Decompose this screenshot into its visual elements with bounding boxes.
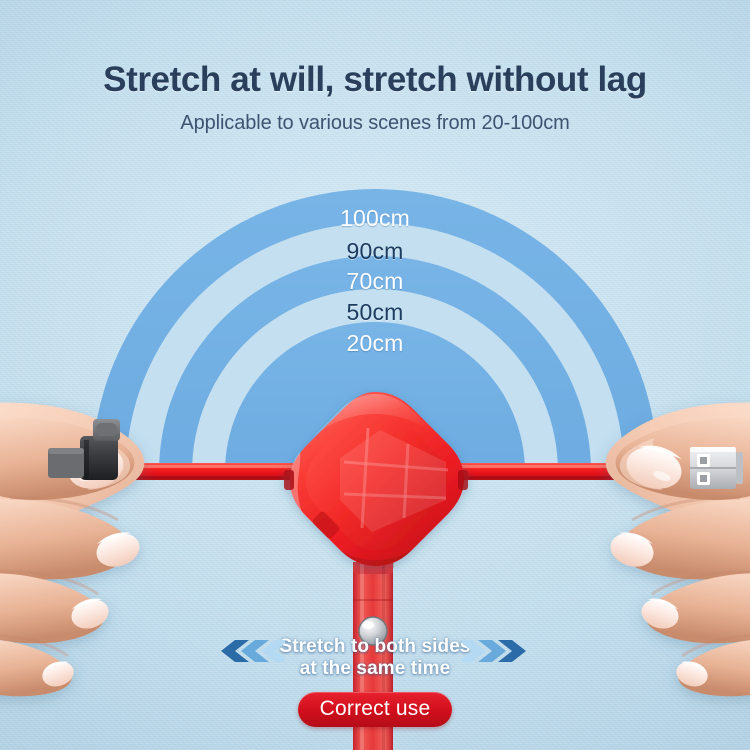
page-subtitle: Applicable to various scenes from 20-100…	[0, 112, 750, 135]
product-banner: Stretch at will, stretch without lag App…	[0, 0, 750, 750]
status-badge: Correct use	[298, 692, 453, 727]
correct-use-badge-wrap: Correct use	[0, 692, 750, 727]
page-title: Stretch at will, stretch without lag	[0, 60, 750, 100]
